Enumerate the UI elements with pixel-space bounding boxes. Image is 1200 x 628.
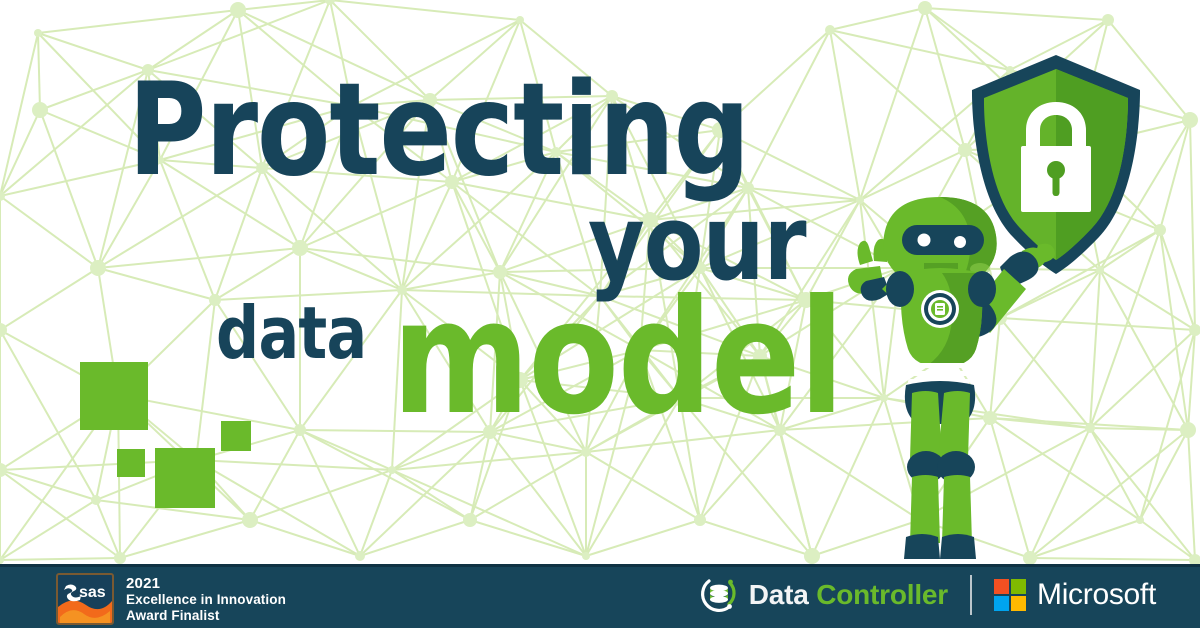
headline-line-1: Protecting	[128, 72, 749, 190]
robot-mascot-illustration	[790, 185, 1090, 575]
decorative-square-4	[155, 448, 215, 508]
microsoft-tiles-icon	[994, 579, 1026, 611]
microsoft-logo[interactable]: Microsoft	[994, 578, 1156, 612]
data-controller-word-2: Controller	[816, 579, 948, 610]
brand-divider	[970, 575, 972, 615]
microsoft-wordmark: Microsoft	[1037, 578, 1156, 612]
microsoft-tile-1	[994, 579, 1009, 594]
sas-award-line-1: Excellence in Innovation	[126, 592, 286, 608]
banner-canvas: Protecting your data model	[0, 0, 1200, 628]
microsoft-tile-3	[994, 596, 1009, 611]
headline-word-model: model	[392, 286, 843, 431]
data-controller-word-1: Data	[749, 579, 809, 610]
sas-award-text: 2021 Excellence in Innovation Award Fina…	[126, 575, 286, 624]
microsoft-tile-2	[1011, 579, 1026, 594]
svg-text:sas: sas	[79, 584, 106, 601]
decorative-square-1	[80, 362, 148, 430]
sas-logo-icon: sas	[56, 573, 114, 625]
decorative-square-3	[117, 449, 145, 477]
decorative-square-2	[221, 421, 251, 451]
sas-award-year: 2021	[126, 575, 286, 592]
sas-award-badge: sas 2021 Excellence in Innovation Award …	[56, 573, 286, 625]
microsoft-tile-4	[1011, 596, 1026, 611]
headline-word-data: data	[216, 300, 367, 366]
data-controller-logo[interactable]: Data Controller	[700, 575, 948, 615]
sas-award-line-2: Award Finalist	[126, 608, 286, 624]
database-orbit-icon	[700, 575, 738, 615]
brand-lockup: Data Controller Microsoft	[700, 575, 1156, 615]
data-controller-wordmark: Data Controller	[749, 579, 948, 611]
footer-bar: sas 2021 Excellence in Innovation Award …	[0, 564, 1200, 628]
